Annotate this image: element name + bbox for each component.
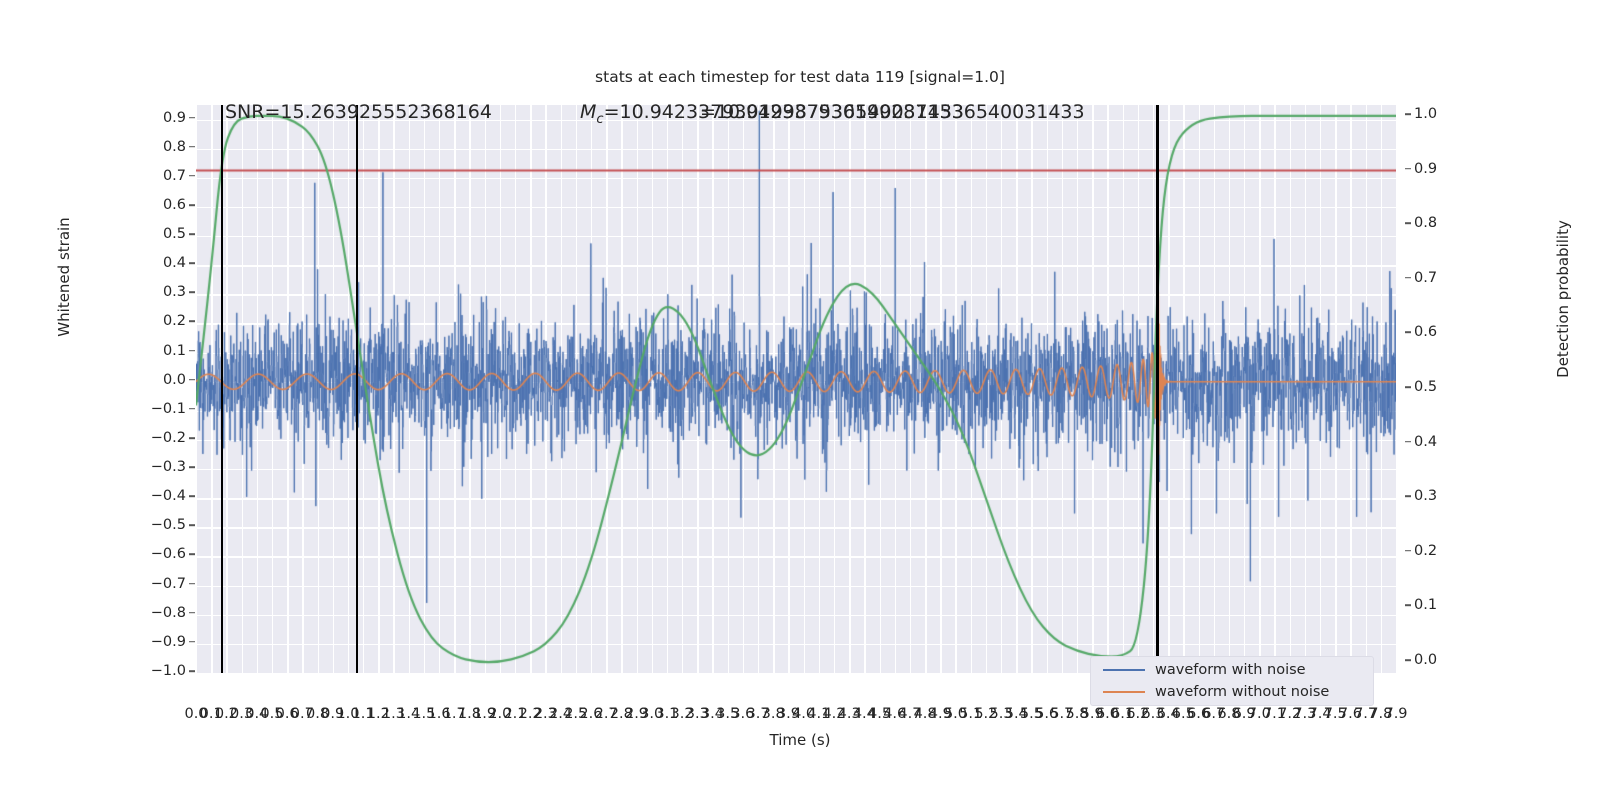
tick-mark xyxy=(189,583,195,585)
y-axis-right-tick-label: 1.0 xyxy=(1414,106,1474,122)
y-axis-left-label: Whitened strain xyxy=(55,177,73,377)
y-axis-right-tick-label: 0.3 xyxy=(1414,488,1474,504)
tick-mark xyxy=(1405,441,1411,443)
tick-mark xyxy=(189,350,195,352)
tick-mark xyxy=(1405,550,1411,552)
chart-title: stats at each timestep for test data 119… xyxy=(0,68,1600,86)
tick-mark xyxy=(189,408,195,410)
y-axis-left-tick-label: 0.2 xyxy=(134,313,186,329)
y-axis-left-tick-label: −0.8 xyxy=(134,605,186,621)
tick-mark xyxy=(189,292,195,294)
tick-mark xyxy=(189,466,195,468)
tick-mark xyxy=(1405,605,1411,607)
y-axis-right-tick-label: 0.6 xyxy=(1414,324,1474,340)
tick-mark xyxy=(189,175,195,177)
tick-mark xyxy=(1405,495,1411,497)
tick-mark xyxy=(189,117,195,119)
tick-mark xyxy=(189,204,195,206)
y-axis-right-tick-label: 0.7 xyxy=(1414,270,1474,286)
legend-swatch-orange xyxy=(1103,691,1145,694)
event-marker-line xyxy=(1156,105,1159,673)
y-axis-left-tick-label: 0.1 xyxy=(134,343,186,359)
y-axis-left-tick-label: −0.7 xyxy=(134,576,186,592)
tick-mark xyxy=(1405,168,1411,170)
y-axis-right-tick-label: 0.0 xyxy=(1414,652,1474,668)
y-axis-left-tick-label: −0.3 xyxy=(134,459,186,475)
legend-swatch-blue xyxy=(1103,669,1145,672)
y-axis-left-tick-label: −1.0 xyxy=(134,663,186,679)
chirp-mass-subscript: c xyxy=(596,112,603,127)
y-axis-left-tick-label: 0.0 xyxy=(134,372,186,388)
event-marker-line xyxy=(356,105,359,673)
y-axis-left-tick-label: 0.4 xyxy=(134,255,186,271)
y-axis-left-tick-label: −0.1 xyxy=(134,401,186,417)
y-axis-left-tick-label: 0.7 xyxy=(134,168,186,184)
y-axis-right-tick-label: 0.2 xyxy=(1414,543,1474,559)
series-canvas xyxy=(196,105,1396,673)
tick-mark xyxy=(189,233,195,235)
tick-mark xyxy=(1405,277,1411,279)
legend-item-waveform-without-noise: waveform without noise xyxy=(1103,681,1329,703)
tick-mark xyxy=(189,554,195,556)
tick-mark xyxy=(189,379,195,381)
legend-label-waveform-with-noise: waveform with noise xyxy=(1155,662,1306,678)
tick-mark xyxy=(189,262,195,264)
y-axis-left-tick-label: 0.5 xyxy=(134,226,186,242)
y-axis-right-tick-label: 0.8 xyxy=(1414,215,1474,231)
y-axis-left-tick-label: 0.6 xyxy=(134,197,186,213)
tick-mark xyxy=(189,612,195,614)
tick-mark xyxy=(1405,113,1411,115)
y-axis-right-tick-label: 0.4 xyxy=(1414,434,1474,450)
y-axis-left-tick-label: −0.4 xyxy=(134,488,186,504)
tick-mark xyxy=(189,495,195,497)
plot-area xyxy=(196,105,1396,673)
y-axis-right-tick-label: 0.5 xyxy=(1414,379,1474,395)
chirp-mass-symbol: M xyxy=(580,101,596,123)
tick-mark xyxy=(1405,386,1411,388)
tick-mark xyxy=(1405,332,1411,334)
tick-mark xyxy=(1405,659,1411,661)
x-axis-label: Time (s) xyxy=(0,731,1600,749)
figure-root: stats at each timestep for test data 119… xyxy=(0,0,1600,800)
chirp-mass-overlap-annotation: =10.9423379301992871536540031433 xyxy=(700,101,1085,123)
tick-mark xyxy=(189,525,195,527)
y-axis-right-label: Detection probability xyxy=(1554,184,1572,414)
y-axis-left-tick-label: −0.9 xyxy=(134,634,186,650)
y-axis-left-tick-label: 0.9 xyxy=(134,110,186,126)
legend-label-waveform-without-noise: waveform without noise xyxy=(1155,684,1329,700)
tick-mark xyxy=(189,670,195,672)
tick-mark xyxy=(189,641,195,643)
y-axis-left-tick-label: 0.8 xyxy=(134,139,186,155)
y-axis-left-tick-label: −0.5 xyxy=(134,517,186,533)
legend: waveform with noise waveform without noi… xyxy=(1090,656,1374,706)
tick-mark xyxy=(189,437,195,439)
tick-mark xyxy=(1405,222,1411,224)
y-axis-left-tick-label: −0.6 xyxy=(134,546,186,562)
x-axis-tick-label: 7.9 xyxy=(1384,706,1407,722)
y-axis-left-tick-label: −0.2 xyxy=(134,430,186,446)
tick-mark xyxy=(189,321,195,323)
event-marker-line xyxy=(221,105,224,673)
legend-item-waveform-with-noise: waveform with noise xyxy=(1103,659,1306,681)
y-axis-right-tick-label: 0.9 xyxy=(1414,161,1474,177)
y-axis-left-tick-label: 0.3 xyxy=(134,284,186,300)
snr-annotation: SNR=15.263925552368164 xyxy=(225,101,492,123)
y-axis-right-tick-label: 0.1 xyxy=(1414,597,1474,613)
tick-mark xyxy=(189,146,195,148)
